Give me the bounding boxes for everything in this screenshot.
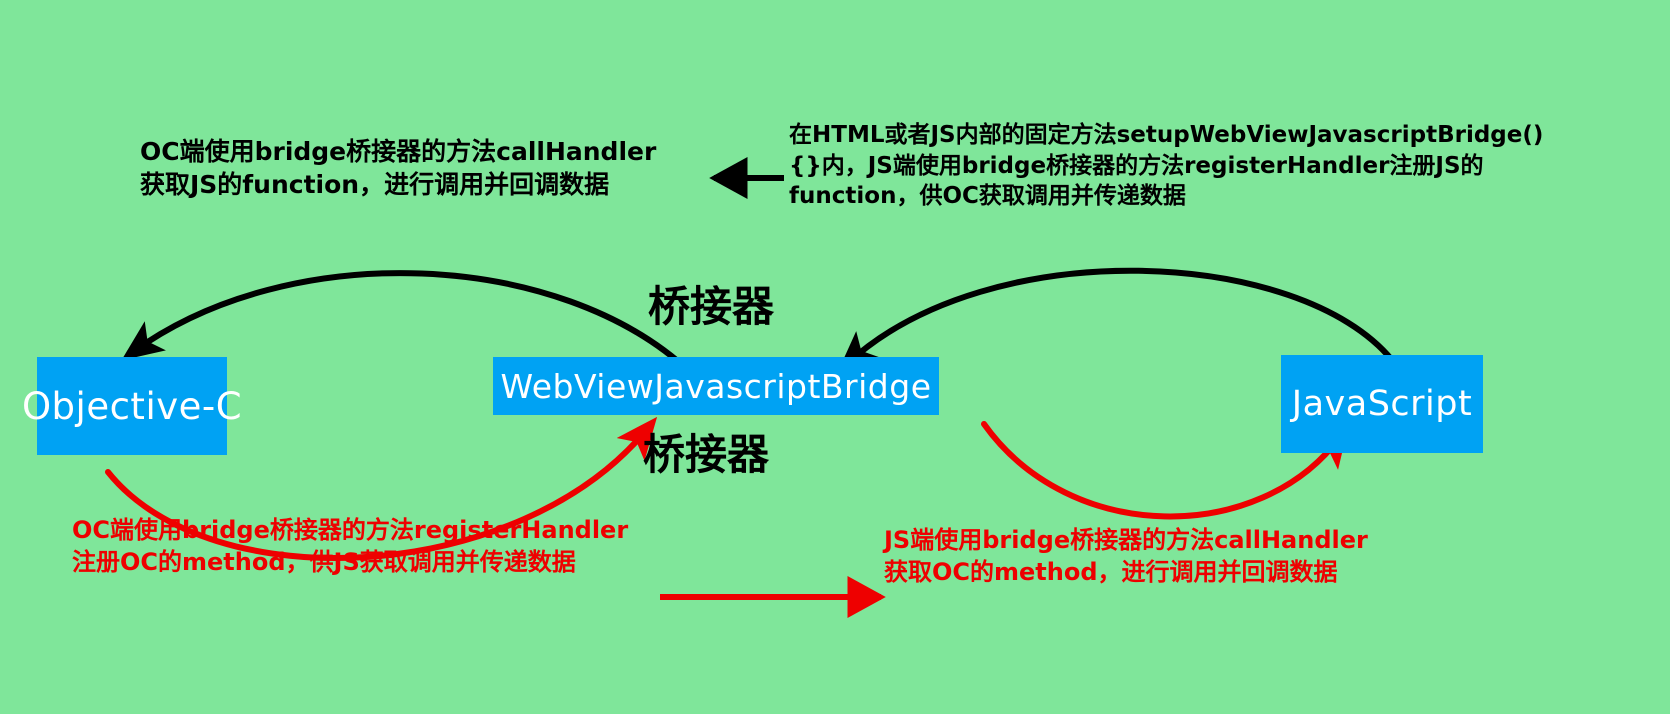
annotation-oc-register-handler: OC端使用bridge桥接器的方法registerHandler 注册OC的me… (72, 515, 628, 579)
node-javascript-label: JavaScript (1292, 384, 1472, 424)
black-curve-javascript-to-bridge (848, 271, 1392, 363)
bridge-label-top: 桥接器 (648, 286, 774, 328)
bridge-label-bottom: 桥接器 (643, 434, 769, 476)
node-webview-javascript-bridge-label: WebViewJavascriptBridge (501, 367, 932, 406)
annotation-js-register-handler: 在HTML或者JS内部的固定方法setupWebViewJavascriptBr… (789, 120, 1669, 212)
annotation-oc-call-handler: OC端使用bridge桥接器的方法callHandler 获取JS的functi… (140, 135, 656, 202)
node-objective-c-label: Objective-C (22, 385, 242, 428)
diagram-canvas: Objective-C WebViewJavascriptBridge Java… (0, 0, 1670, 714)
node-objective-c[interactable]: Objective-C (37, 357, 227, 455)
annotation-js-call-handler: JS端使用bridge桥接器的方法callHandler 获取OC的method… (884, 525, 1368, 589)
node-webview-javascript-bridge[interactable]: WebViewJavascriptBridge (493, 357, 939, 415)
node-javascript[interactable]: JavaScript (1281, 355, 1483, 453)
